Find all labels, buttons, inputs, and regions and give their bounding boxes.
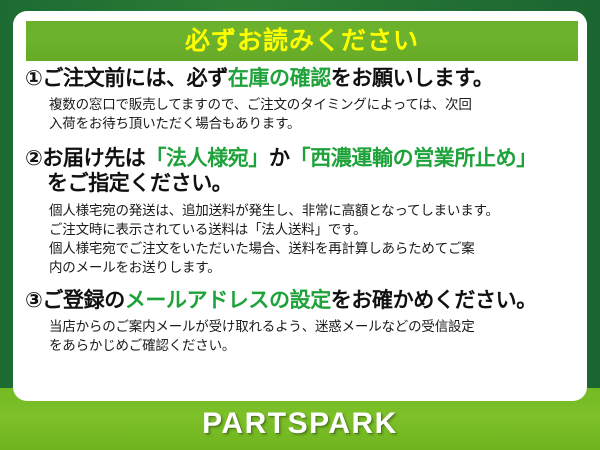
header-title: 必ずお読みください — [185, 29, 419, 54]
notice-item-2-heading-line2: をご指定ください。 — [25, 172, 578, 197]
notice-item-2: ②お届け先は「法人様宛」か「西濃運輸の営業所止め」 をご指定ください。 個人様宅… — [25, 147, 578, 277]
item-1-number: ① — [25, 67, 42, 90]
item-2-head-pre: お届け先は — [42, 147, 145, 170]
notice-item-3-heading: ③ご登録のメールアドレスの設定をお確かめください。 — [25, 289, 578, 314]
item-1-head-pre: ご注文前には、必ず — [42, 67, 227, 90]
item-2-head-mid: か — [269, 147, 290, 170]
notice-item-1-body: 複数の窓口で販売してますので、ご注文のタイミングによっては、次回 入荷をお待ち頂… — [25, 95, 578, 133]
item-3-head-post: をお確かめください。 — [331, 289, 537, 312]
notice-item-3-body: 当店からのご案内メールが受け取れるよう、迷惑メールなどの受信設定 をあらかじめご… — [25, 317, 578, 355]
notice-item-1: ①ご注文前には、必ず在庫の確認をお願いします。 複数の窓口で販売してますので、ご… — [25, 67, 578, 133]
brand-logo: PARTSPARK — [0, 407, 600, 441]
item-1-highlight: 在庫の確認 — [228, 67, 331, 90]
item-2-highlight-corporate: 「法人様宛」 — [145, 147, 269, 170]
notice-item-2-body: 個人様宅宛の発送は、追加送料が発生し、非常に高額となってしまいます。 ご注文時に… — [25, 201, 578, 278]
notice-item-1-heading: ①ご注文前には、必ず在庫の確認をお願いします。 — [25, 67, 578, 92]
item-2-number: ② — [25, 147, 42, 170]
item-3-head-pre: ご登録の — [42, 289, 124, 312]
item-1-head-post: をお願いします。 — [331, 67, 494, 90]
item-3-number: ③ — [25, 289, 42, 312]
header-banner: 必ずお読みください — [26, 21, 578, 61]
item-2-highlight-seino: 「西濃運輸の営業所止め」 — [290, 147, 537, 170]
white-panel: 必ずお読みください ①ご注文前には、必ず在庫の確認をお願いします。 複数の窓口で… — [13, 11, 587, 401]
notice-card: 必ずお読みください ①ご注文前には、必ず在庫の確認をお願いします。 複数の窓口で… — [0, 0, 600, 450]
item-3-highlight: メールアドレスの設定 — [125, 289, 331, 312]
notice-item-3: ③ご登録のメールアドレスの設定をお確かめください。 当店からのご案内メールが受け… — [25, 289, 578, 355]
notice-item-2-heading: ②お届け先は「法人様宛」か「西濃運輸の営業所止め」 — [25, 147, 578, 172]
notice-content: ①ご注文前には、必ず在庫の確認をお願いします。 複数の窓口で販売してますので、ご… — [13, 67, 587, 357]
